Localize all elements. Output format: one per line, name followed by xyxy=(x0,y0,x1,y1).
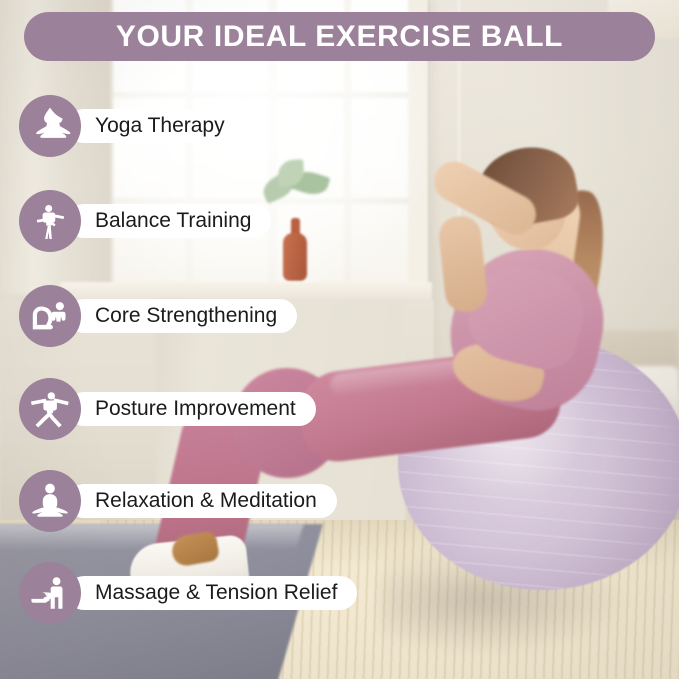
feature-label-pill: Yoga Therapy xyxy=(67,109,245,143)
feature-label: Core Strengthening xyxy=(95,304,277,328)
feature-label: Yoga Therapy xyxy=(95,114,225,138)
title-banner: YOUR IDEAL EXERCISE BALL xyxy=(24,12,655,61)
feature-label: Relaxation & Meditation xyxy=(95,489,317,513)
feature-label-pill: Core Strengthening xyxy=(67,299,297,333)
feature-label: Posture Improvement xyxy=(95,397,296,421)
feature-item-core-strengthening[interactable]: Core Strengthening xyxy=(19,285,297,347)
feature-item-posture-improvement[interactable]: Posture Improvement xyxy=(19,378,316,440)
yoga-lotus-arms-up-icon xyxy=(19,95,81,157)
feature-label-pill: Relaxation & Meditation xyxy=(67,484,337,518)
page-title: YOUR IDEAL EXERCISE BALL xyxy=(116,20,563,54)
feature-label-pill: Balance Training xyxy=(67,204,271,238)
feature-item-balance-training[interactable]: Balance Training xyxy=(19,190,271,252)
warrior-pose-posture-icon xyxy=(19,378,81,440)
lotus-meditation-icon xyxy=(19,470,81,532)
feature-label: Massage & Tension Relief xyxy=(95,581,337,605)
feature-label-pill: Posture Improvement xyxy=(67,392,316,426)
massage-therapy-icon xyxy=(19,562,81,624)
feature-label: Balance Training xyxy=(95,209,251,233)
tree-pose-balance-icon xyxy=(19,190,81,252)
abdominal-crunch-icon xyxy=(19,285,81,347)
feature-label-pill: Massage & Tension Relief xyxy=(67,576,357,610)
feature-item-yoga-therapy[interactable]: Yoga Therapy xyxy=(19,95,245,157)
overlay-layer: YOUR IDEAL EXERCISE BALL Yoga Therapy xyxy=(0,0,679,679)
feature-item-relaxation-meditation[interactable]: Relaxation & Meditation xyxy=(19,470,337,532)
feature-item-massage-tension-relief[interactable]: Massage & Tension Relief xyxy=(19,562,357,624)
